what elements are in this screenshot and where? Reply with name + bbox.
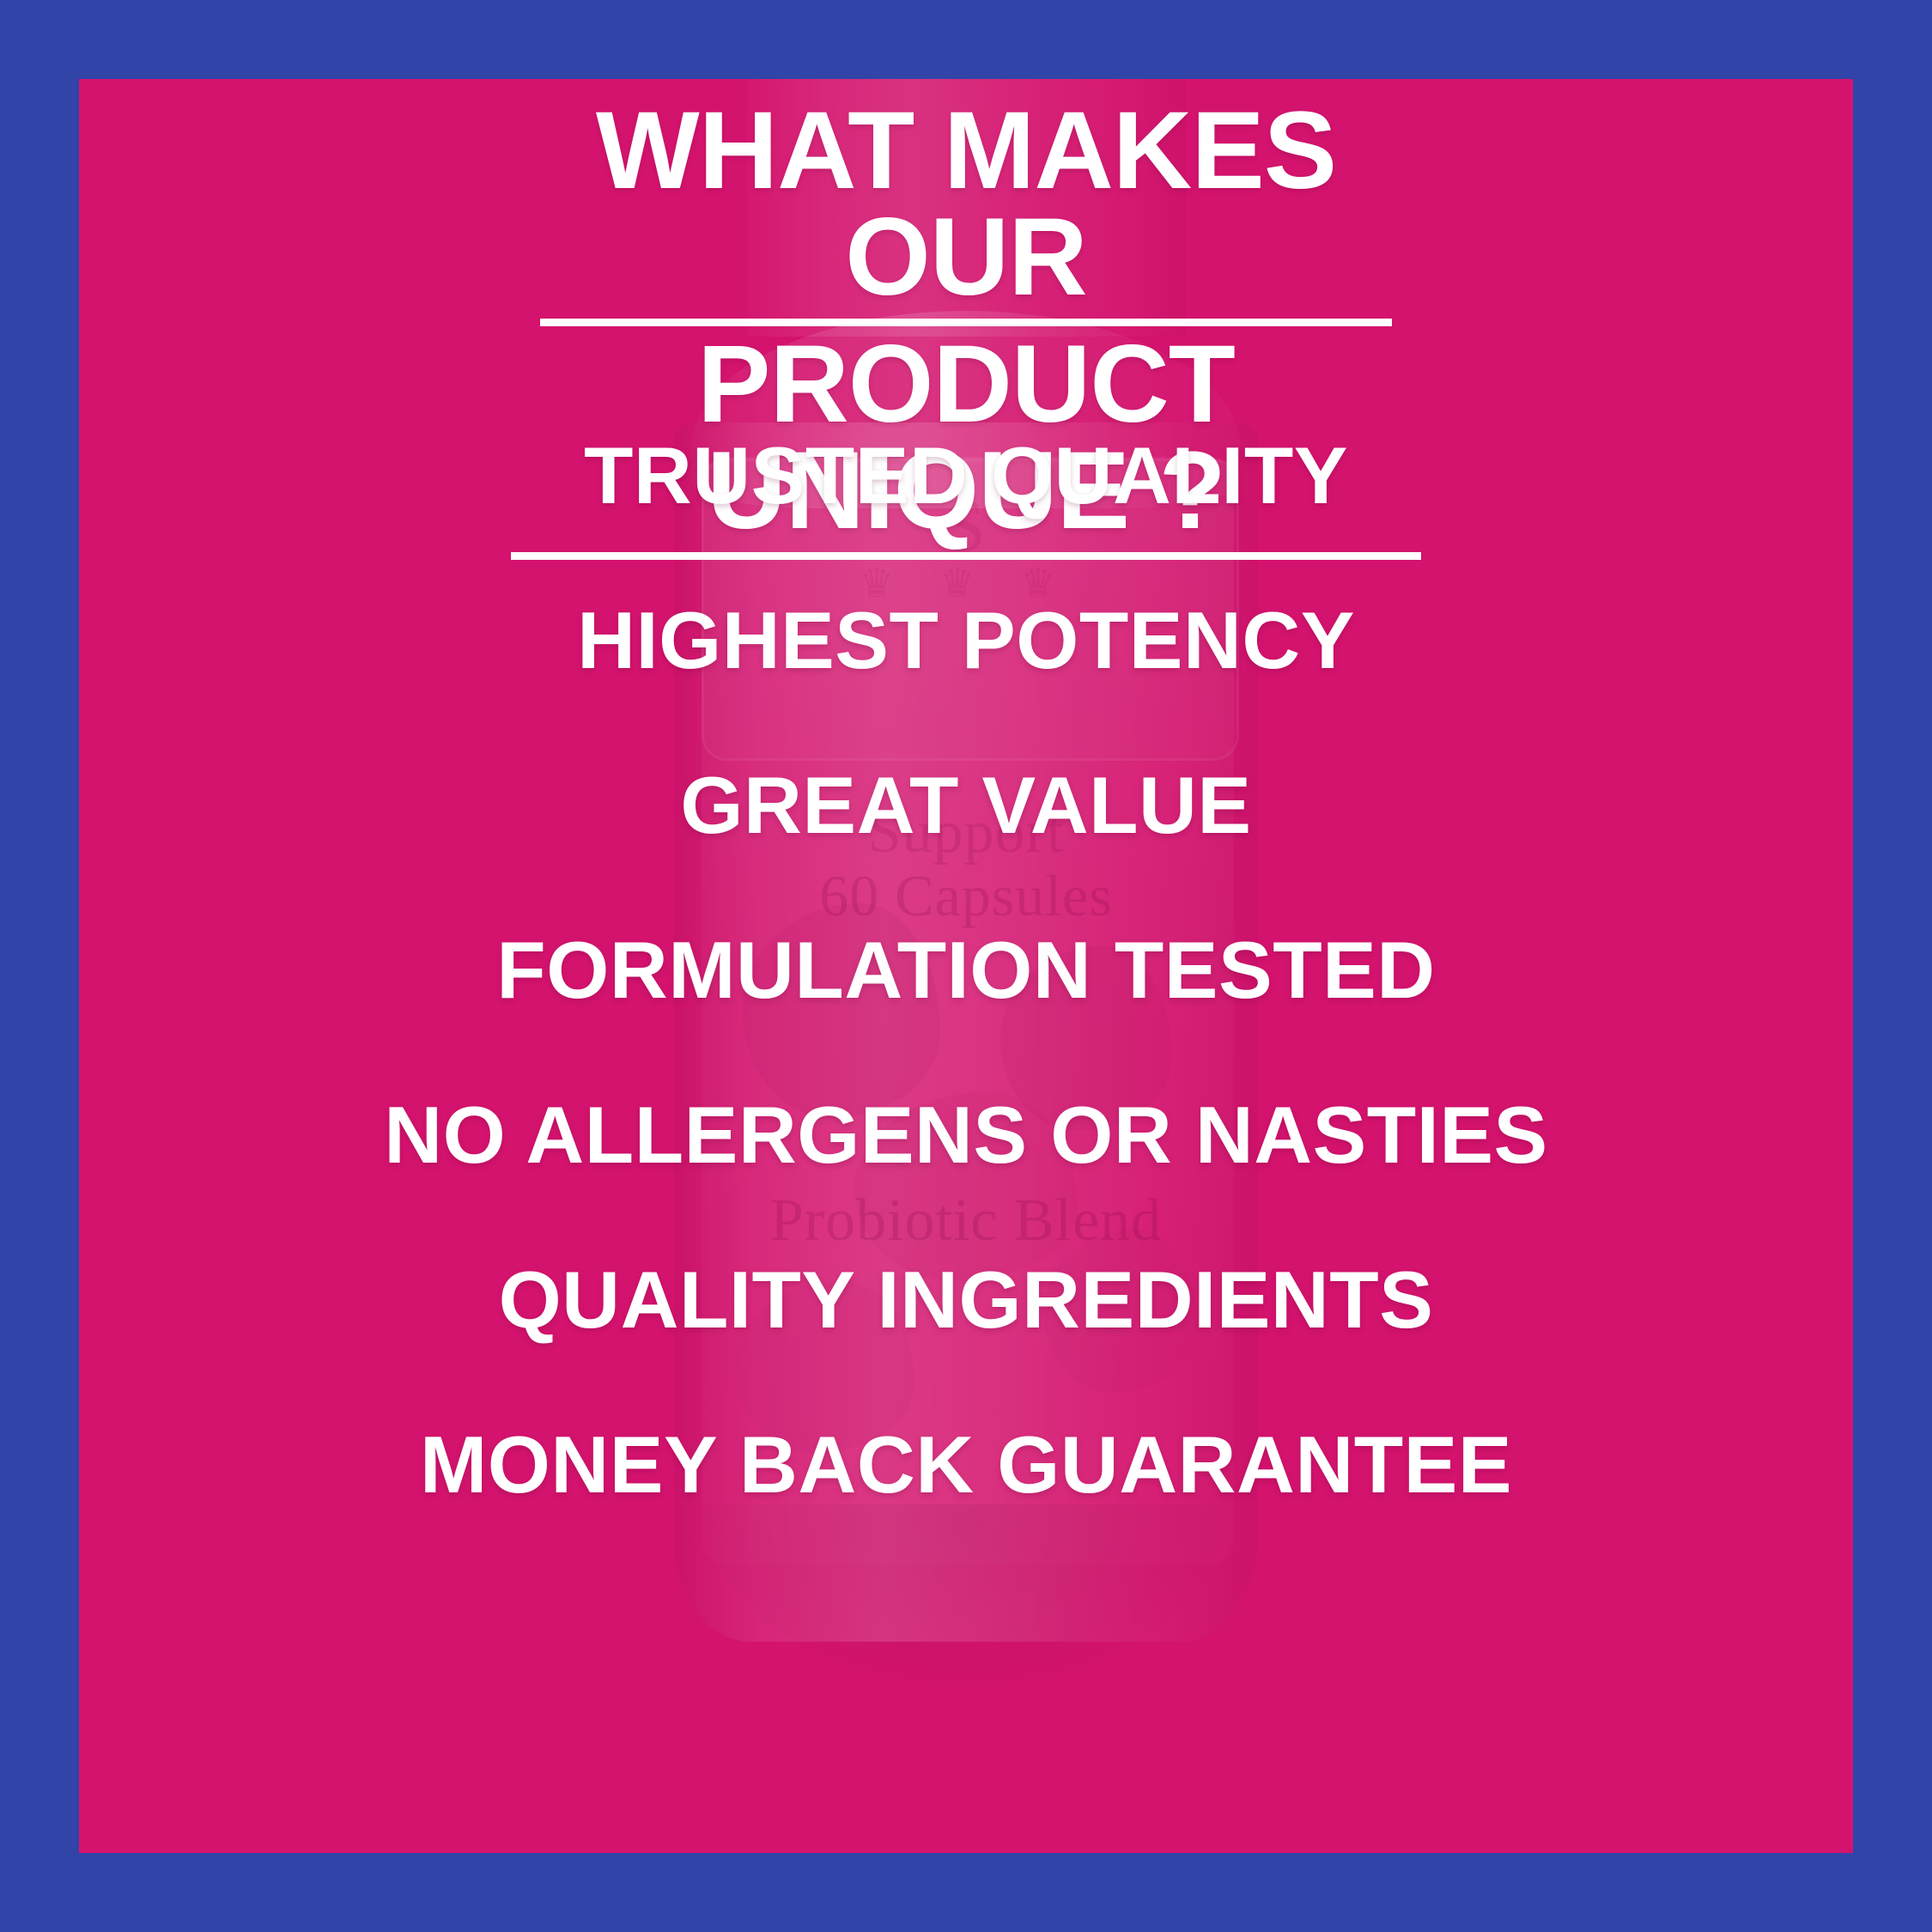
list-item: MONEY BACK GUARANTEE bbox=[420, 1422, 1512, 1508]
headline-line-1-text: WHAT MAKES OUR bbox=[596, 89, 1336, 319]
poster-canvas: S ♛ ♛ ♛ Support 60 Capsules Probiotic Bl… bbox=[0, 0, 1932, 1932]
list-item: TRUSTED QUALITY bbox=[584, 433, 1348, 519]
list-item: NO ALLERGENS OR NASTIES bbox=[384, 1092, 1547, 1178]
benefits-list: TRUSTED QUALITY HIGHEST POTENCY GREAT VA… bbox=[79, 433, 1853, 1508]
list-item: FORMULATION TESTED bbox=[496, 927, 1435, 1013]
headline-line-1: WHAT MAKES OUR bbox=[532, 98, 1400, 326]
list-item: QUALITY INGREDIENTS bbox=[499, 1257, 1434, 1343]
poster-content: WHAT MAKES OUR PRODUCT UNIQUE ? TRUSTED … bbox=[79, 79, 1853, 1853]
inner-pink-panel: S ♛ ♛ ♛ Support 60 Capsules Probiotic Bl… bbox=[79, 79, 1853, 1853]
list-item: HIGHEST POTENCY bbox=[577, 598, 1355, 683]
list-item: GREAT VALUE bbox=[680, 762, 1251, 848]
